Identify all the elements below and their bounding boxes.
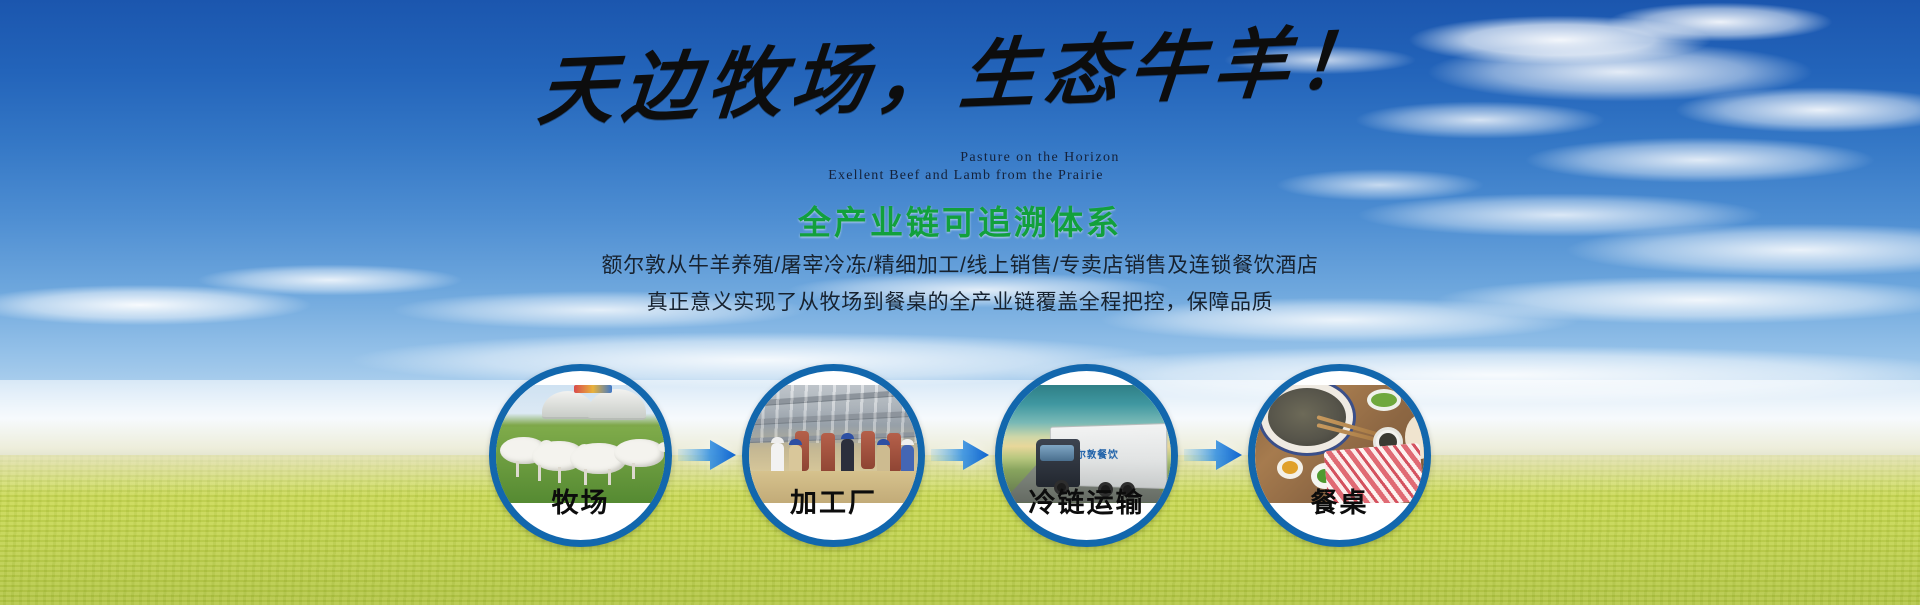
arrow-right-icon-1 <box>676 435 738 475</box>
arrow-right-icon-2 <box>929 435 991 475</box>
chain-node-label: 冷链运输 <box>1002 481 1171 520</box>
headline-area: 天边牧场，生态牛羊！ <box>0 38 1920 118</box>
description-block: 额尔敦从牛羊养殖/屠宰冷冻/精细加工/线上销售/专卖店销售及连锁餐饮酒店 真正意… <box>0 248 1920 322</box>
chain-node-label: 餐桌 <box>1255 481 1424 520</box>
chain-node-label: 加工厂 <box>749 481 918 520</box>
description-line-1: 额尔敦从牛羊养殖/屠宰冷冻/精细加工/线上销售/专卖店销售及连锁餐饮酒店 <box>0 248 1920 285</box>
description-line-2: 真正意义实现了从牧场到餐桌的全产业链覆盖全程把控，保障品质 <box>0 285 1920 322</box>
truck-cab <box>1036 439 1080 487</box>
english-subtitle: Pasture on the Horizon Exellent Beef and… <box>0 150 1920 184</box>
english-subtitle-line1: Pasture on the Horizon <box>160 150 1920 166</box>
chain-node-dining-table[interactable]: 餐桌 <box>1248 364 1431 547</box>
chain-node-label: 牧场 <box>496 481 665 520</box>
arrow-right-icon-3 <box>1182 435 1244 475</box>
english-subtitle-line2: Exellent Beef and Lamb from the Prairie <box>12 168 1920 184</box>
chain-node-cold-chain[interactable]: 额尔敦餐饮 冷链运输 <box>995 364 1178 547</box>
section-title: 全产业链可追溯体系 <box>0 196 1920 244</box>
chain-node-pasture[interactable]: 牧场 <box>489 364 672 547</box>
headline-calligraphy: 天边牧场，生态牛羊！ <box>535 22 1385 134</box>
chain-node-factory[interactable]: 加工厂 <box>742 364 925 547</box>
promo-banner: 天边牧场，生态牛羊！ Pasture on the Horizon Exelle… <box>0 0 1920 605</box>
hotpot <box>1261 385 1353 453</box>
supply-chain-row: 牧场 <box>0 340 1920 570</box>
